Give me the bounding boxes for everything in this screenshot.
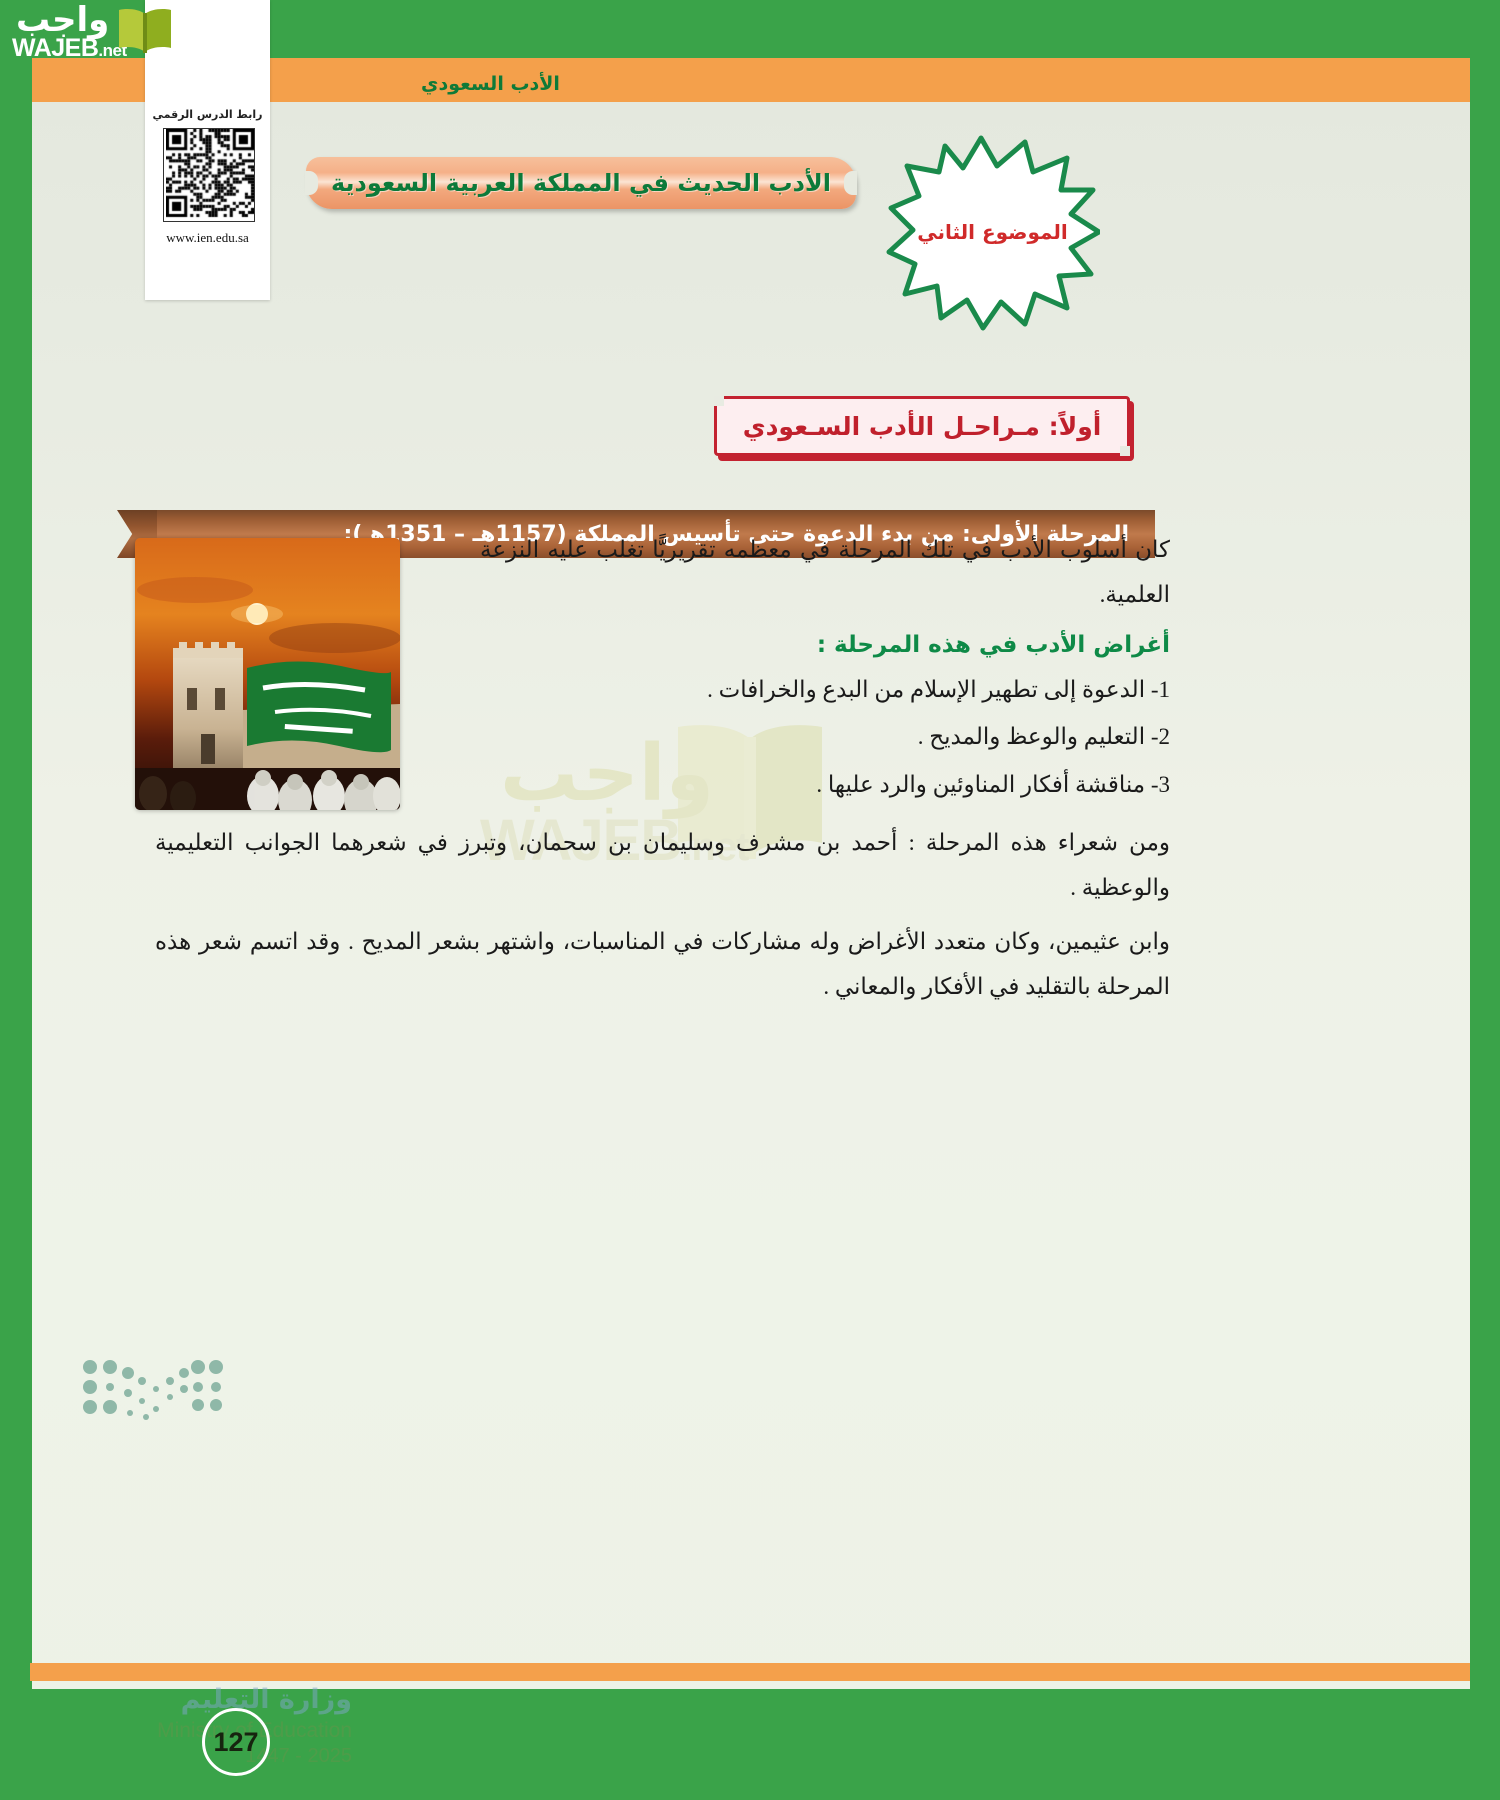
qr-code-icon[interactable] <box>163 128 255 222</box>
page-number-badge: 127 <box>202 1708 270 1776</box>
topic-starburst-label: الموضوع الثاني <box>885 220 1100 244</box>
topic-starburst: الموضوع الثاني <box>885 128 1100 333</box>
wajeb-logo-english: WAJEB.net <box>12 34 127 63</box>
qr-card-url: www.ien.edu.sa <box>145 230 270 246</box>
lesson-body: كان أسلوب الأدب في تلك المرحلة في معظمه … <box>150 528 1170 1010</box>
saudi-ministry-dots-icon <box>80 1355 230 1425</box>
intro-paragraph: كان أسلوب الأدب في تلك المرحلة في معظمه … <box>480 528 1170 618</box>
footer-orange-bar <box>30 1663 1470 1681</box>
page-root: الأدب السعودي واجب WAJEB.net رابط الدرس … <box>0 0 1500 1800</box>
wajeb-logo: واجب WAJEB.net <box>10 2 160 64</box>
open-book-icon <box>115 6 175 56</box>
purposes-subheading: أغراض الأدب في هذه المرحلة : <box>480 632 1170 658</box>
ibn-othaimeen-paragraph: وابن عثيمين، وكان متعدد الأغراض وله مشار… <box>155 920 1170 1010</box>
ministry-name-arabic: وزارة التعليم <box>72 1684 352 1715</box>
lesson-title-text: الأدب الحديث في المملكة العربية السعودية <box>306 157 856 209</box>
header-subject-label: الأدب السعودي <box>421 73 560 95</box>
header-subject-tab: الأدب السعودي <box>318 66 663 102</box>
right-green-strip <box>1470 0 1500 1800</box>
list-item: 2- التعليم والوعظ والمديح . <box>480 715 1170 759</box>
qr-card-label: رابط الدرس الرقمي <box>145 108 270 121</box>
left-green-strip <box>0 0 32 1800</box>
section-heading-text: أولاً: مـراحـل الأدب السـعودي <box>717 399 1127 453</box>
list-item: 1- الدعوة إلى تطهير الإسلام من البدع وال… <box>480 668 1170 712</box>
section-heading-box: أولاً: مـراحـل الأدب السـعودي <box>714 396 1130 456</box>
lesson-title-banner: الأدب الحديث في المملكة العربية السعودية <box>306 157 856 209</box>
poets-paragraph: ومن شعراء هذه المرحلة : أحمد بن مشرف وسل… <box>155 821 1170 911</box>
list-item: 3- مناقشة أفكار المناوئين والرد عليها . <box>480 763 1170 807</box>
